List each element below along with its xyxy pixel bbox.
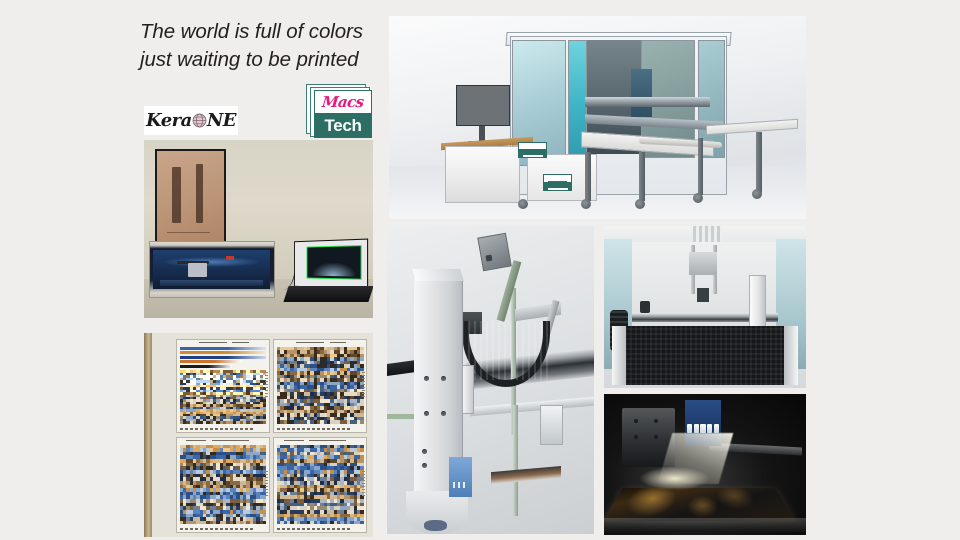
quadrant-header xyxy=(274,340,366,345)
laptop-screen xyxy=(294,238,368,289)
gradient-bar xyxy=(180,347,266,350)
quadrant-footer xyxy=(277,528,351,530)
macstech-logo-bottom: Tech xyxy=(315,113,371,137)
swatch-quadrant-bottom-left xyxy=(176,437,270,533)
swatch-grid xyxy=(277,445,363,525)
headline-line-1: The world is full of colors xyxy=(140,18,390,46)
printer-head xyxy=(188,263,207,277)
badge-bottom xyxy=(519,149,546,157)
printhead-printing-photo xyxy=(604,394,806,535)
quadrant-side-label xyxy=(265,471,268,497)
blue-connector-panel xyxy=(449,457,472,497)
macstech-logo-top-text: Macs xyxy=(321,95,364,110)
gradient-bar xyxy=(180,351,266,354)
ceiling-ducting xyxy=(693,226,721,244)
control-cabinet xyxy=(445,146,520,203)
gradient-bar xyxy=(180,365,232,368)
table-edge xyxy=(604,518,806,532)
badge-bottom xyxy=(544,182,571,190)
bed-rail-right xyxy=(784,326,798,384)
keraone-logo-text-after: NE xyxy=(207,112,236,130)
cable-bundle-left xyxy=(387,359,416,375)
drawing-column-left xyxy=(172,167,181,222)
table-leg xyxy=(585,152,591,201)
bolt-hole xyxy=(424,376,429,381)
vertical-post-lower xyxy=(513,405,518,516)
swatch-quadrant-bottom-right xyxy=(273,437,367,533)
quadrant-footer xyxy=(180,428,254,430)
bolt-hole xyxy=(441,376,446,381)
macstech-logo-bottom-text: Tech xyxy=(324,117,361,134)
caster-wheel xyxy=(518,199,528,209)
print-bed xyxy=(620,326,790,384)
quadrant-side-label xyxy=(362,372,365,398)
bolt-hole xyxy=(422,449,427,454)
laptop-screen-content xyxy=(306,244,361,279)
gantry-column-photo xyxy=(387,226,594,534)
pneumatic-cylinder xyxy=(462,365,474,414)
print-head-block xyxy=(697,288,709,303)
printer-bed xyxy=(160,280,263,286)
gradient-bars xyxy=(180,347,266,370)
nozzle-array xyxy=(687,424,719,434)
globe-icon xyxy=(192,113,207,128)
swatch-quadrant-top-left xyxy=(176,339,270,433)
gantry-rail-upper xyxy=(585,97,710,107)
macstech-logo-card: Macs Tech xyxy=(314,90,372,138)
camera-head xyxy=(477,233,511,271)
bolt-hole xyxy=(422,463,427,468)
drawing-column-right xyxy=(196,164,203,222)
printer-status-led xyxy=(226,256,234,260)
macstech-logo: Macs Tech xyxy=(306,84,374,140)
quadrant-header xyxy=(274,438,366,443)
swatch-grid xyxy=(277,347,363,424)
bolt-hole xyxy=(441,411,446,416)
color-swatch xyxy=(263,421,266,423)
bed-rail-left xyxy=(612,326,626,384)
machine-render-photo xyxy=(389,16,806,219)
column-foot xyxy=(406,491,468,534)
drawing-mat xyxy=(157,151,224,247)
print-head-assembly xyxy=(631,69,652,118)
adjustment-knob xyxy=(640,301,650,314)
swatch-grid xyxy=(180,445,266,525)
color-swatch xyxy=(360,521,363,525)
table-leg xyxy=(756,132,762,193)
quadrant-side-label xyxy=(362,471,365,497)
printer-window xyxy=(153,250,270,290)
headline-line-2: just waiting to be printed xyxy=(140,46,390,74)
macstech-badge xyxy=(518,142,547,158)
sample-tray xyxy=(491,466,561,484)
machine-interior-photo xyxy=(604,226,806,388)
print-head-housing xyxy=(689,252,717,275)
page-title: The world is full of colors just waiting… xyxy=(140,18,390,74)
keraone-logo: Kera NE xyxy=(144,106,238,135)
table-leg xyxy=(639,152,645,201)
chart-binding-spine xyxy=(144,333,152,537)
slide-canvas: The world is full of colors just waiting… xyxy=(0,0,960,540)
carriage-block xyxy=(540,405,563,445)
color-swatch xyxy=(360,420,363,424)
color-swatch xyxy=(263,521,266,525)
desktop-printer-unit xyxy=(149,241,275,298)
caster-wheel xyxy=(752,189,762,199)
quadrant-header xyxy=(177,438,269,443)
gradient-bar xyxy=(180,360,242,363)
macstech-badge xyxy=(543,174,572,190)
swatch-grid xyxy=(180,370,266,423)
caster-wheel xyxy=(635,199,645,209)
lab-bench-photo xyxy=(144,140,373,318)
bolt-hole xyxy=(424,411,429,416)
caster-wheel xyxy=(581,199,591,209)
table-leg xyxy=(698,138,704,195)
quadrant-footer xyxy=(277,428,351,430)
quadrant-header xyxy=(177,340,269,345)
cable-chain xyxy=(462,321,551,387)
quadrant-footer xyxy=(180,528,254,530)
operator-monitor xyxy=(456,85,510,126)
keraone-logo-text-before: Kera xyxy=(146,112,192,130)
illuminated-print-area xyxy=(640,467,709,490)
drawing-baseline xyxy=(167,232,210,234)
framed-drawing xyxy=(155,149,226,249)
macstech-logo-top: Macs xyxy=(315,91,371,113)
printed-panel xyxy=(604,487,795,520)
linear-rail-lower xyxy=(470,396,594,416)
quadrant-side-label xyxy=(265,372,268,398)
color-swatch-chart-photo xyxy=(144,333,373,537)
laptop-keyboard xyxy=(283,286,373,302)
gradient-bar xyxy=(180,356,266,359)
swatch-quadrant-top-right xyxy=(273,339,367,433)
